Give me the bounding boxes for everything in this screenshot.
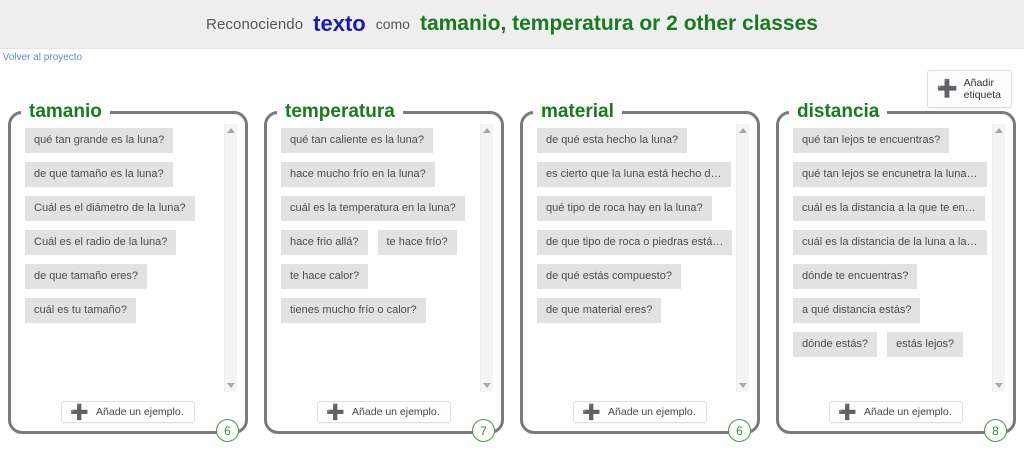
label-column-material: material de qué esta hecho la luna?es ci… [512, 104, 768, 464]
example-count-badge: 8 [984, 419, 1007, 442]
example-chip[interactable]: qué tan lejos se encunetra la luna… [793, 162, 987, 187]
label-bucket-title-temperatura: temperatura [277, 104, 403, 120]
label-bucket-title-material: material [533, 104, 622, 120]
example-count-badge: 7 [472, 419, 495, 442]
scroll-up-arrow-icon[interactable] [995, 128, 1003, 133]
header-subject-type: texto [313, 11, 366, 37]
example-chip-list: qué tan caliente es la luna?hace mucho f… [281, 128, 477, 323]
examples-scrollbar[interactable] [736, 124, 749, 392]
add-example-row: ➕ Añade un ejemplo. [529, 396, 751, 427]
plus-icon: ➕ [582, 407, 601, 418]
example-chip[interactable]: estás lejos? [887, 332, 963, 357]
add-example-button[interactable]: ➕ Añade un ejemplo. [317, 401, 450, 423]
header-classes-summary: tamanio, temperatura or 2 other classes [420, 12, 818, 36]
example-chip-list: qué tan grande es la luna?de que tamaño … [25, 128, 221, 323]
add-example-row: ➕ Añade un ejemplo. [273, 396, 495, 427]
example-chip[interactable]: de que tipo de roca o piedras está… [537, 230, 732, 255]
scroll-down-arrow-icon[interactable] [483, 383, 491, 388]
example-chip[interactable]: de que tamaño eres? [25, 264, 147, 289]
example-chip[interactable]: es cierto que la luna está hecho d… [537, 162, 731, 187]
example-chip-list: de qué esta hecho la luna?es cierto que … [537, 128, 733, 323]
plus-icon: ➕ [326, 407, 345, 418]
example-chip[interactable]: qué tan caliente es la luna? [281, 128, 433, 153]
example-chip[interactable]: Cuál es el diámetro de la luna? [25, 196, 195, 221]
label-bucket-material: material de qué esta hecho la luna?es ci… [520, 104, 760, 434]
label-bucket-tamanio: tamanio qué tan grande es la luna?de que… [8, 104, 248, 434]
example-chip[interactable]: hace mucho frío en la luna? [281, 162, 435, 187]
add-example-button[interactable]: ➕ Añade un ejemplo. [829, 401, 962, 423]
scroll-down-arrow-icon[interactable] [739, 383, 747, 388]
example-chip[interactable]: cuál es tu tamaño? [25, 298, 136, 323]
label-column-temperatura: temperatura qué tan caliente es la luna?… [256, 104, 512, 464]
example-count-badge: 6 [216, 419, 239, 442]
label-bucket-title-distancia: distancia [789, 104, 887, 120]
add-example-button[interactable]: ➕ Añade un ejemplo. [61, 401, 194, 423]
add-example-row: ➕ Añade un ejemplo. [785, 396, 1007, 427]
header-lead-text: Reconociendo [206, 16, 303, 33]
add-label-button[interactable]: ➕ Añadir etiqueta [927, 70, 1012, 108]
label-bucket-examples-area: qué tan caliente es la luna?hace mucho f… [273, 120, 495, 396]
example-chip[interactable]: cuál es la temperatura en la luna? [281, 196, 465, 221]
example-chip[interactable]: de qué esta hecho la luna? [537, 128, 687, 153]
add-label-wrap: ➕ Añadir etiqueta [927, 70, 1012, 108]
example-chip[interactable]: cuál es la distancia de la luna a la… [793, 230, 987, 255]
example-chip[interactable]: qué tipo de roca hay en la luna? [537, 196, 712, 221]
example-chip[interactable]: te hace frío? [378, 230, 457, 255]
example-chip[interactable]: a qué distancia estás? [793, 298, 920, 323]
example-chip-list: qué tan lejos te encuentras?qué tan lejo… [793, 128, 989, 357]
label-bucket-examples-area: qué tan grande es la luna?de que tamaño … [17, 120, 239, 396]
examples-scrollbar[interactable] [224, 124, 237, 392]
example-chip[interactable]: dónde te encuentras? [793, 264, 917, 289]
label-buckets-container: tamanio qué tan grande es la luna?de que… [0, 104, 1024, 464]
scroll-up-arrow-icon[interactable] [739, 128, 747, 133]
example-count-badge: 6 [728, 419, 751, 442]
example-chip[interactable]: cuál es la distancia a la que te en… [793, 196, 985, 221]
label-bucket-temperatura: temperatura qué tan caliente es la luna?… [264, 104, 504, 434]
back-to-project-link[interactable]: < Volver al proyecto [0, 52, 82, 63]
add-label-button-label: Añadir etiqueta [964, 77, 1001, 101]
label-column-distancia: distancia qué tan lejos te encuentras?qu… [768, 104, 1024, 464]
example-chip[interactable]: Cuál es el radio de la luna? [25, 230, 176, 255]
add-example-button-label: Añade un ejemplo. [352, 406, 440, 418]
label-bucket-examples-area: de qué esta hecho la luna?es cierto que … [529, 120, 751, 396]
add-example-button-label: Añade un ejemplo. [96, 406, 184, 418]
header-connector-text: como [376, 16, 410, 32]
example-chip[interactable]: te hace calor? [281, 264, 368, 289]
scroll-down-arrow-icon[interactable] [227, 383, 235, 388]
scroll-down-arrow-icon[interactable] [995, 383, 1003, 388]
scroll-up-arrow-icon[interactable] [483, 128, 491, 133]
add-example-button-label: Añade un ejemplo. [608, 406, 696, 418]
add-example-button-label: Añade un ejemplo. [864, 406, 952, 418]
plus-icon: ➕ [70, 407, 89, 418]
label-column-tamanio: tamanio qué tan grande es la luna?de que… [0, 104, 256, 464]
label-bucket-examples-area: qué tan lejos te encuentras?qué tan lejo… [785, 120, 1007, 396]
example-chip[interactable]: hace frio allá? [281, 230, 368, 255]
example-chip[interactable]: de que tamaño es la luna? [25, 162, 173, 187]
example-chip[interactable]: de qué estás compuesto? [537, 264, 681, 289]
add-example-row: ➕ Añade un ejemplo. [17, 396, 239, 427]
example-chip[interactable]: qué tan grande es la luna? [25, 128, 173, 153]
label-bucket-title-tamanio: tamanio [21, 104, 110, 120]
backlink-row: < Volver al proyecto [0, 49, 1024, 67]
example-chip[interactable]: de que material eres? [537, 298, 661, 323]
example-chip[interactable]: tienes mucho frío o calor? [281, 298, 426, 323]
header-banner: Reconociendo texto como tamanio, tempera… [0, 0, 1024, 49]
examples-scrollbar[interactable] [992, 124, 1005, 392]
label-bucket-distancia: distancia qué tan lejos te encuentras?qu… [776, 104, 1016, 434]
add-example-button[interactable]: ➕ Añade un ejemplo. [573, 401, 706, 423]
example-chip[interactable]: qué tan lejos te encuentras? [793, 128, 949, 153]
plus-icon: ➕ [838, 407, 857, 418]
example-chip[interactable]: dónde estás? [793, 332, 877, 357]
plus-icon: ➕ [936, 83, 957, 95]
examples-scrollbar[interactable] [480, 124, 493, 392]
scroll-up-arrow-icon[interactable] [227, 128, 235, 133]
